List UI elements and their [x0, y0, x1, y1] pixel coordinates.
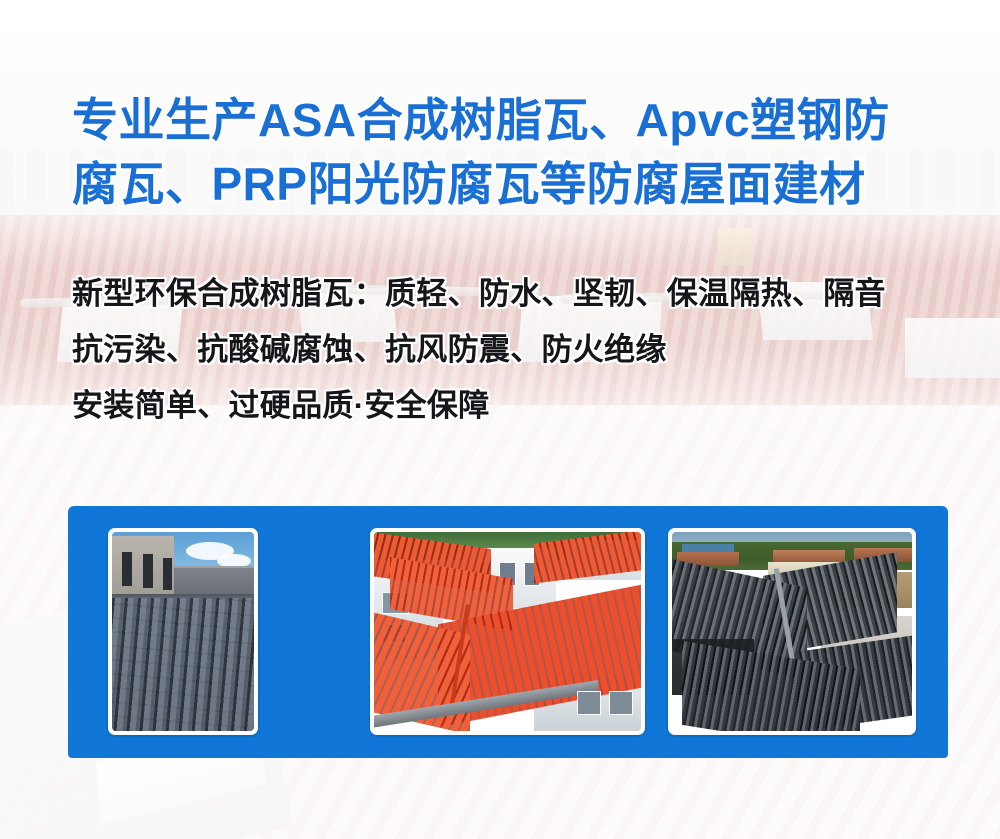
- photo1-window: [143, 554, 153, 588]
- subtitle-line-2: 抗污染、抗酸碱腐蚀、抗风防震、防火绝缘: [72, 322, 962, 378]
- photo1-tile-roof: [112, 598, 254, 731]
- photo-image-3: [672, 532, 912, 731]
- headline-block: 专业生产ASA合成树脂瓦、Apvc塑钢防 腐瓦、PRP阳光防腐瓦等防腐屋面建材: [72, 88, 952, 216]
- headline-line-2: 腐瓦、PRP阳光防腐瓦等防腐屋面建材: [72, 152, 952, 216]
- gallery-photo-row: [68, 506, 948, 758]
- photo-red-resin-tile-roof[interactable]: [370, 528, 645, 735]
- photo2-window: [609, 691, 633, 715]
- subtitle-line-1: 新型环保合成树脂瓦：质轻、防水、坚韧、保温隔热、隔音: [72, 266, 962, 322]
- photo2-window: [577, 691, 601, 715]
- promotional-banner: 专业生产ASA合成树脂瓦、Apvc塑钢防 腐瓦、PRP阳光防腐瓦等防腐屋面建材 …: [0, 0, 1000, 839]
- photo-image-2: [374, 532, 641, 731]
- gallery-panel: [68, 506, 948, 758]
- subtitle-block: 新型环保合成树脂瓦：质轻、防水、坚韧、保温隔热、隔音 抗污染、抗酸碱腐蚀、抗风防…: [72, 266, 962, 434]
- photo-gray-barrel-tile-roof[interactable]: [108, 528, 258, 735]
- photo3-village-building: [773, 550, 845, 562]
- subtitle-line-3: 安装简单、过硬品质·安全保障: [72, 378, 962, 434]
- headline-line-1: 专业生产ASA合成树脂瓦、Apvc塑钢防: [72, 88, 952, 152]
- photo-dark-gray-tile-roof[interactable]: [668, 528, 916, 735]
- photo1-window: [122, 552, 132, 586]
- photo-image-1: [112, 532, 254, 731]
- photo1-window: [163, 558, 172, 590]
